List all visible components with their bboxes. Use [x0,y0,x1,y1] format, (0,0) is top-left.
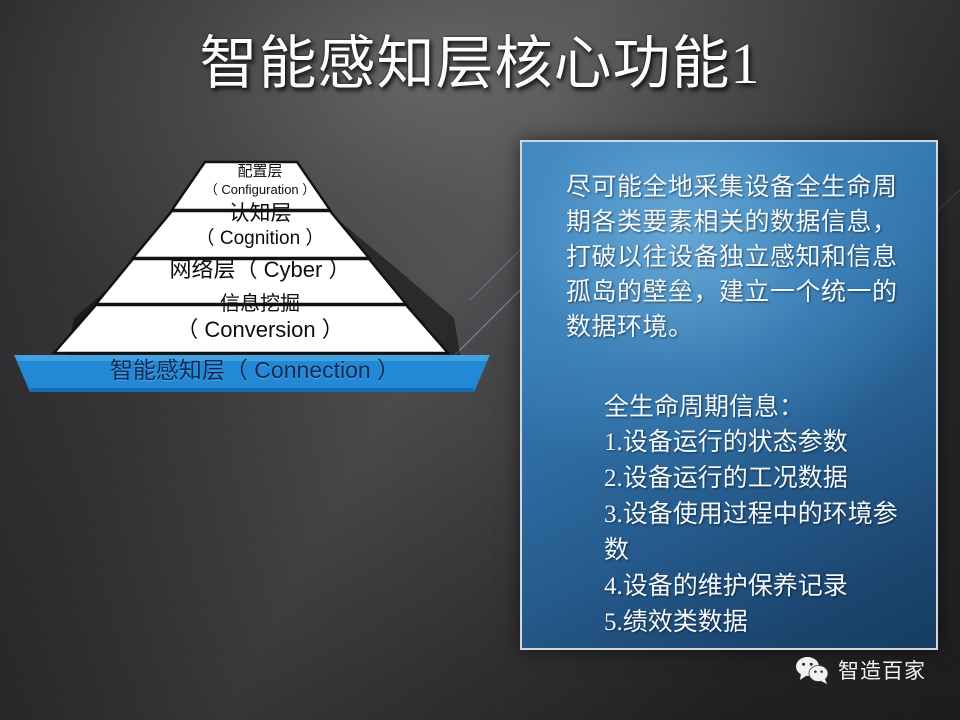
pyramid-layer-1-en: （ Configuration ） [150,181,370,199]
wechat-icon [795,656,829,684]
info-panel-list: 1.设备运行的状态参数 2.设备运行的工况数据 3.设备使用过程中的环境参数 4… [552,425,914,641]
page-title: 智能感知层核心功能1 [0,34,960,95]
watermark: 智造百家 [795,655,926,685]
info-panel-subtitle: 全生命周期信息： [552,390,914,425]
list-item: 5.绩效类数据 [604,605,914,641]
pyramid-layer-4-en: （ Conversion ） [70,316,450,344]
pyramid-layer-2-en: （ Cognition ） [120,226,400,251]
pyramid-layer-3-label: 网络层（ Cyber ） [80,257,440,283]
slide-canvas: 智能感知层核心功能1 配置层 （ Configuration ） 认知层 （ C… [0,0,960,720]
pyramid-layer-2-label: 认知层 （ Cognition ） [120,202,400,251]
list-item: 2.设备运行的工况数据 [604,461,914,497]
pyramid-layer-4-label: 信息挖掘 （ Conversion ） [70,292,450,344]
list-item: 4.设备的维护保养记录 [604,569,914,605]
watermark-label: 智造百家 [838,655,926,685]
pyramid-layer-2-cn: 认知层 [120,202,400,226]
list-item: 3.设备使用过程中的环境参数 [604,497,914,569]
info-panel: 尽可能全地采集设备全生命周期各类要素相关的数据信息，打破以往设备独立感知和信息孤… [520,140,938,650]
pyramid-layer-5-label: 智能感知层（ Connection ） [20,356,490,384]
pyramid-layer-1-cn: 配置层 [150,162,370,181]
list-item: 1.设备运行的状态参数 [604,425,914,461]
pyramid-layer-1-label: 配置层 （ Configuration ） [150,162,370,199]
pyramid-layer-4-cn: 信息挖掘 [70,292,450,316]
pyramid-labels: 配置层 （ Configuration ） 认知层 （ Cognition ） … [0,140,520,410]
info-panel-paragraph: 尽可能全地采集设备全生命周期各类要素相关的数据信息，打破以往设备独立感知和信息孤… [552,170,914,345]
pyramid-layer-3-cn: 网络层（ Cyber ） [170,257,351,282]
